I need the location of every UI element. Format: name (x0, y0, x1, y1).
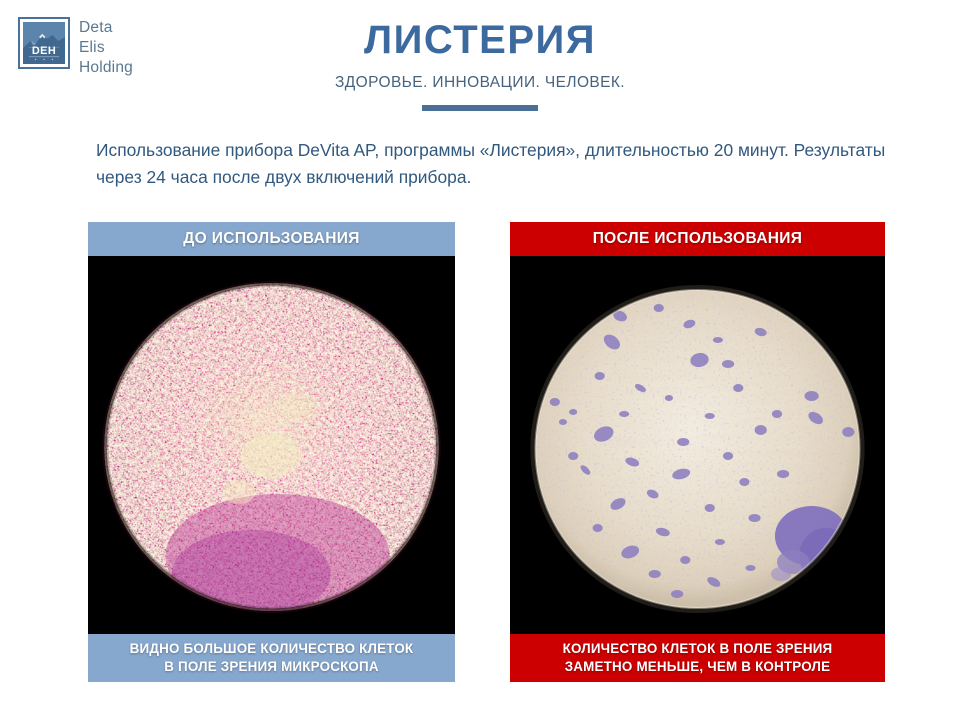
panel-before-caption-line-2: В ПОЛЕ ЗРЕНИЯ МИКРОСКОПА (164, 658, 379, 676)
page-subtitle: ЗДОРОВЬЕ. ИННОВАЦИИ. ЧЕЛОВЕК. (0, 75, 960, 91)
panel-after-caption: КОЛИЧЕСТВО КЛЕТОК В ПОЛЕ ЗРЕНИЯ ЗАМЕТНО … (510, 634, 885, 682)
panel-after: ПОСЛЕ ИСПОЛЬЗОВАНИЯ (510, 222, 885, 682)
micrograph-after-sparse-cream-field (510, 256, 885, 634)
micrograph-before-dense-magenta-field (88, 256, 455, 634)
title-block: ЛИСТЕРИЯ ЗДОРОВЬЕ. ИННОВАЦИИ. ЧЕЛОВЕК. (0, 20, 960, 111)
panel-after-caption-line-2: ЗАМЕТНО МЕНЬШЕ, ЧЕМ В КОНТРОЛЕ (565, 658, 831, 676)
panel-before-caption-line-1: ВИДНО БОЛЬШОЕ КОЛИЧЕСТВО КЛЕТОК (130, 640, 414, 658)
title-divider (422, 105, 538, 111)
slide-header: DEH Deta Elis Holding ЛИСТЕРИЯ ЗДОРОВЬЕ.… (0, 0, 960, 125)
panel-before: ДО ИСПОЛЬЗОВАНИЯ (88, 222, 455, 682)
panel-after-header: ПОСЛЕ ИСПОЛЬЗОВАНИЯ (510, 222, 885, 256)
panel-after-caption-line-1: КОЛИЧЕСТВО КЛЕТОК В ПОЛЕ ЗРЕНИЯ (563, 640, 833, 658)
panel-before-caption: ВИДНО БОЛЬШОЕ КОЛИЧЕСТВО КЛЕТОК В ПОЛЕ З… (88, 634, 455, 682)
comparison-panels: ДО ИСПОЛЬЗОВАНИЯ (0, 222, 960, 684)
page-title: ЛИСТЕРИЯ (0, 20, 960, 60)
panel-before-header: ДО ИСПОЛЬЗОВАНИЯ (88, 222, 455, 256)
intro-paragraph: Использование прибора DeVita AP, програм… (96, 137, 896, 190)
